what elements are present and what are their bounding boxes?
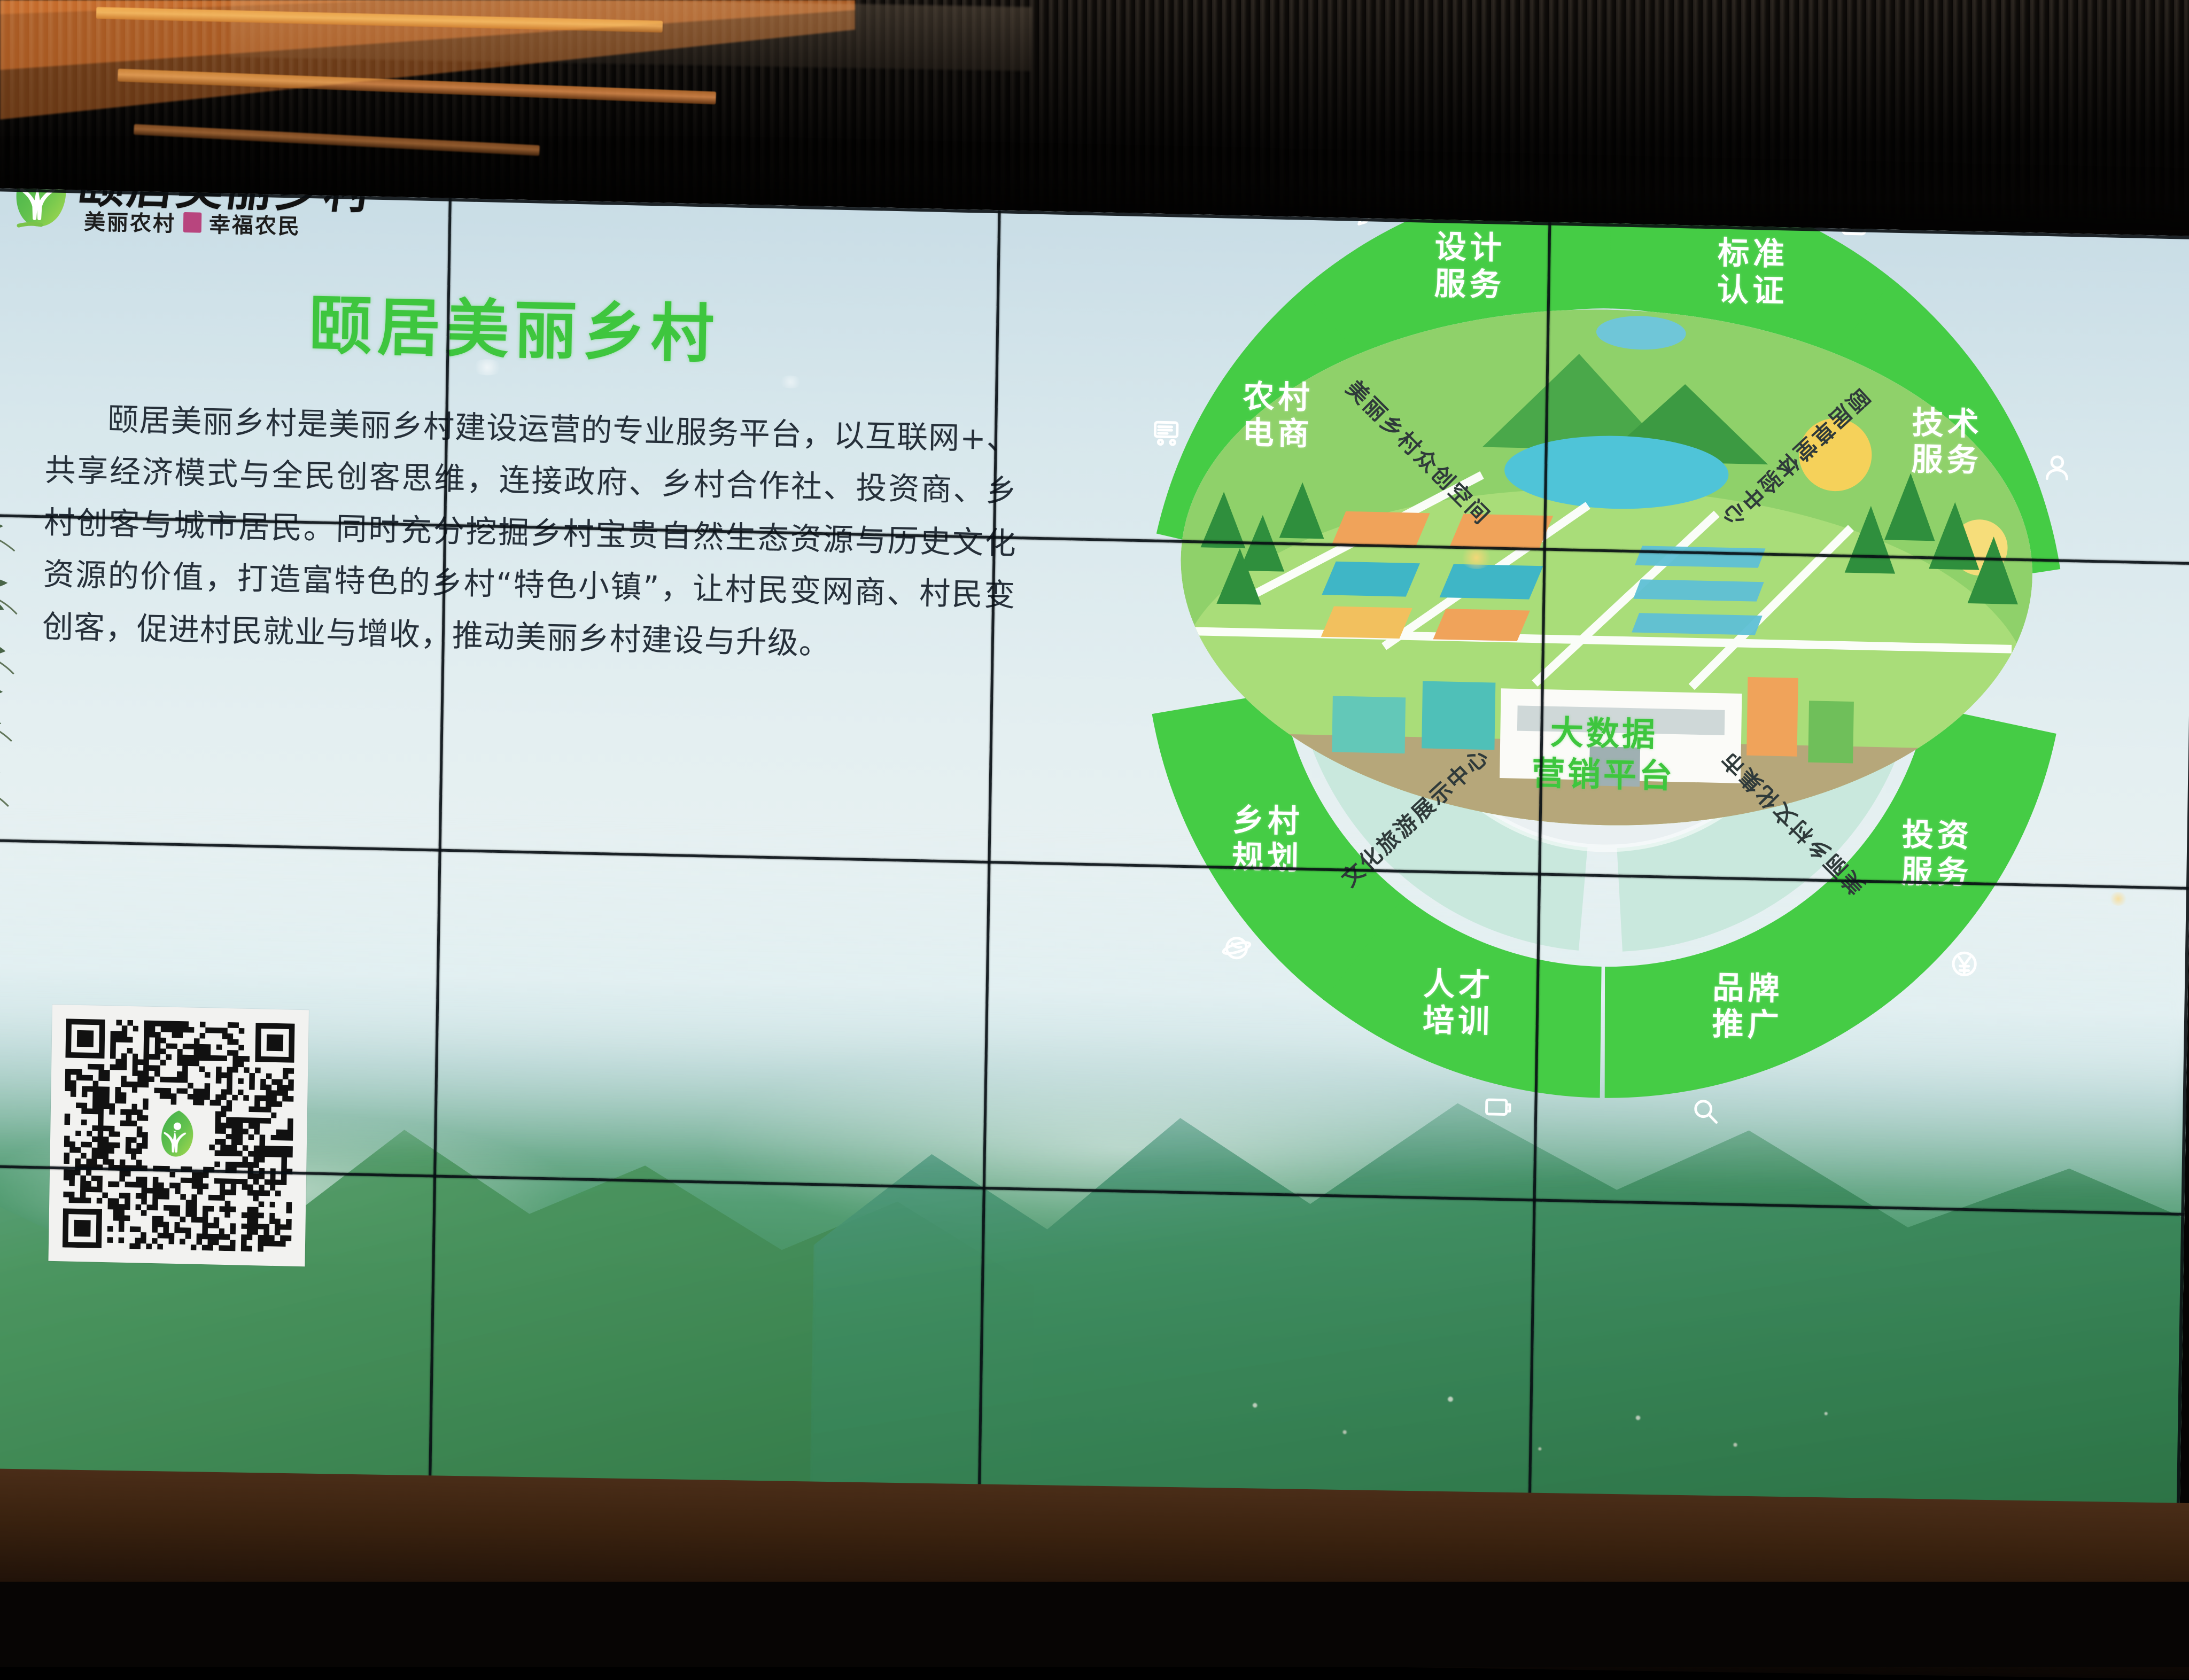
qr-code-card[interactable]: [48, 1005, 308, 1266]
outer-ring-segment-label: 品牌 推广: [1712, 969, 1783, 1044]
slide-paragraph-text: 颐居美丽乡村是美丽乡村建设运营的专业服务平台，以互联网+、共享经济模式与全民创客…: [42, 401, 1019, 662]
leaf-person-icon: [11, 188, 75, 234]
slide-paragraph: 颐居美丽乡村是美丽乡村建设运营的专业服务平台，以互联网+、共享经济模式与全民创客…: [42, 392, 1018, 674]
service-ring-diagram[interactable]: 大数据 营销平台 农村 电商设计 服务标准 认证技术 服务投资 服务品牌 推广人…: [1136, 188, 2075, 1110]
logo-subtitle: 美丽农村 幸福农民: [84, 205, 301, 240]
qr-center-leaf-icon: [155, 1109, 201, 1162]
video-wall[interactable]: 颐居美丽乡村 美丽农村 幸福农民 颐居美丽乡村 颐居美丽乡村是美丽乡村建设运营的…: [0, 188, 2189, 1535]
ceiling-pipe: [134, 124, 540, 156]
outer-ring-segment-label: 技术 服务: [1911, 405, 1983, 479]
exhibition-room: 颐居美丽乡村 美丽农村 幸福农民 颐居美丽乡村 颐居美丽乡村是美丽乡村建设运营的…: [0, 0, 2189, 1642]
outer-ring-segment-label: 乡村 规划: [1232, 802, 1303, 877]
slide-headline: 颐居美丽乡村: [308, 274, 720, 375]
ceiling-pipe: [96, 7, 663, 33]
outer-ring-segment-label: 标准 认证: [1717, 235, 1789, 309]
outer-ring-segment-label: 投资 服务: [1901, 816, 1973, 891]
shopping-cart-icon: [1148, 415, 1184, 450]
brand-logo: 颐居美丽乡村 美丽农村 幸福农民: [11, 188, 354, 274]
outer-ring-segment-label: 设计 服务: [1434, 229, 1505, 304]
globe-icon: [1218, 930, 1254, 966]
slide-village-houses: [1163, 1279, 1918, 1503]
diagram-center-title: 大数据 营销平台: [1532, 712, 1676, 797]
outer-ring-segment-label: 农村 电商: [1242, 378, 1314, 453]
logo-sub-right: 幸福农民: [209, 207, 301, 240]
floor-shadow: [0, 1582, 2189, 1667]
outer-ring-segment-label: 人才 培训: [1423, 966, 1494, 1040]
logo-seal-icon: [183, 212, 202, 233]
ceiling-duct: [229, 0, 1032, 71]
magnifier-icon: [1688, 1093, 1724, 1129]
ceiling-pipe: [118, 69, 716, 105]
currency-yuan-icon: [1946, 946, 1982, 982]
village-illustration: [1137, 188, 2076, 1031]
presentation-icon: [1481, 1091, 1517, 1126]
logo-sub-left: 美丽农村: [84, 205, 176, 238]
user-support-icon: [2039, 449, 2075, 485]
video-wall-screen[interactable]: 颐居美丽乡村 美丽农村 幸福农民 颐居美丽乡村 颐居美丽乡村是美丽乡村建设运营的…: [0, 188, 2189, 1535]
qr-code[interactable]: [63, 1018, 295, 1252]
